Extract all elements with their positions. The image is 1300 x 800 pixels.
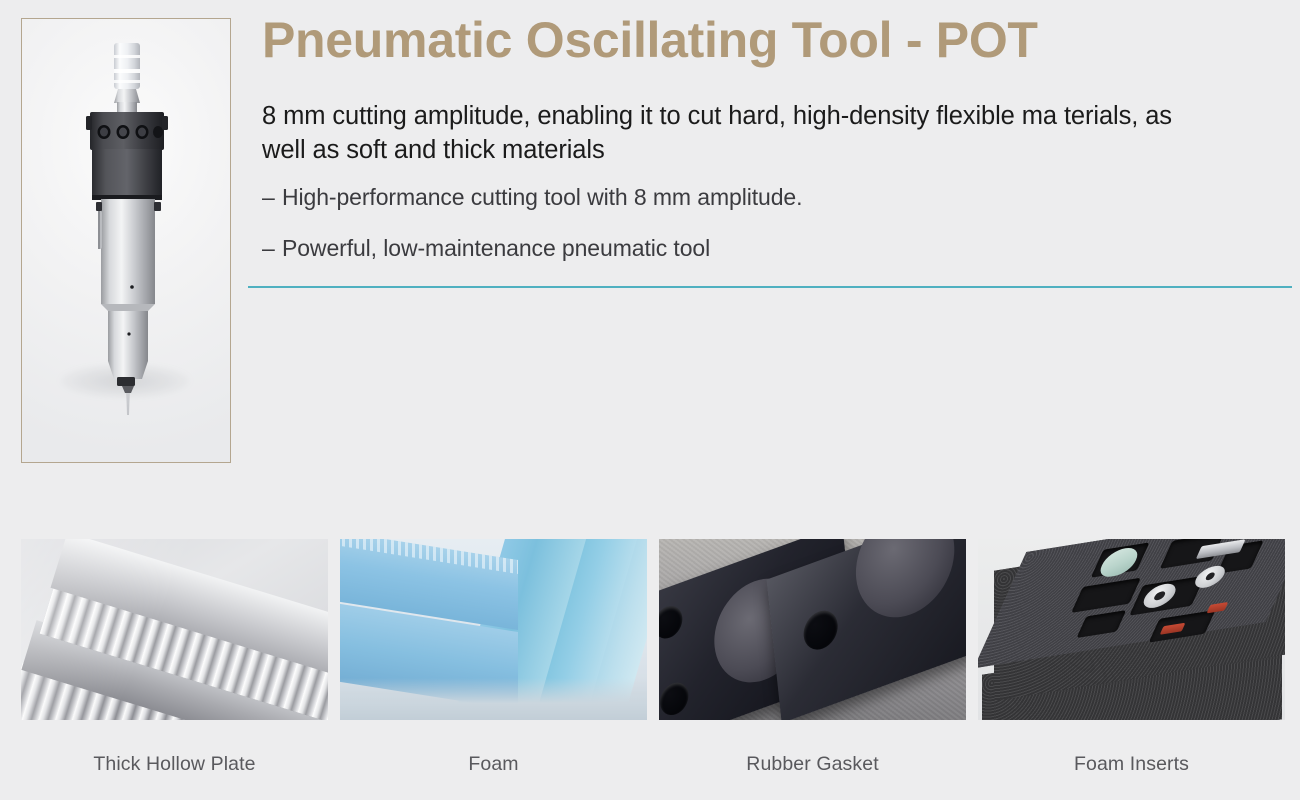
bullet-marker-icon: – [262, 235, 282, 263]
bullet-list: – High-performance cutting tool with 8 m… [262, 184, 1222, 285]
gallery-item-foam: Foam [340, 539, 647, 776]
aluminium-honeycomb-panels-photo [21, 539, 328, 720]
product-photo [22, 19, 230, 462]
pneumatic-oscillating-tool-illustration [22, 19, 231, 463]
bullet-text: High-performance cutting tool with 8 mm … [282, 184, 802, 212]
bullet-text: Powerful, low-maintenance pneumatic tool [282, 235, 710, 263]
page-title: Pneumatic Oscillating Tool - POT [262, 12, 1282, 68]
gallery-item-thick-hollow-plate: Thick Hollow Plate [21, 539, 328, 776]
bullet-marker-icon: – [262, 184, 282, 212]
bullet-item: – High-performance cutting tool with 8 m… [262, 184, 1222, 212]
gallery-caption: Foam [340, 753, 647, 776]
charcoal-foam-inserts-photo [978, 539, 1285, 720]
product-image-frame [21, 18, 231, 463]
subtitle-text: 8 mm cutting amplitude, enabling it to c… [262, 100, 1220, 168]
gallery-caption: Foam Inserts [978, 753, 1285, 776]
gallery-item-foam-inserts: Foam Inserts [978, 539, 1285, 776]
gallery-item-rubber-gasket: Rubber Gasket [659, 539, 966, 776]
section-divider [248, 286, 1292, 288]
bullet-item: – Powerful, low-maintenance pneumatic to… [262, 235, 1222, 263]
blue-xps-foam-boards-photo [340, 539, 647, 720]
black-rubber-gaskets-photo [659, 539, 966, 720]
gallery-caption: Thick Hollow Plate [21, 753, 328, 776]
material-gallery: Thick Hollow Plate Foam [0, 539, 1300, 789]
gallery-caption: Rubber Gasket [659, 753, 966, 776]
